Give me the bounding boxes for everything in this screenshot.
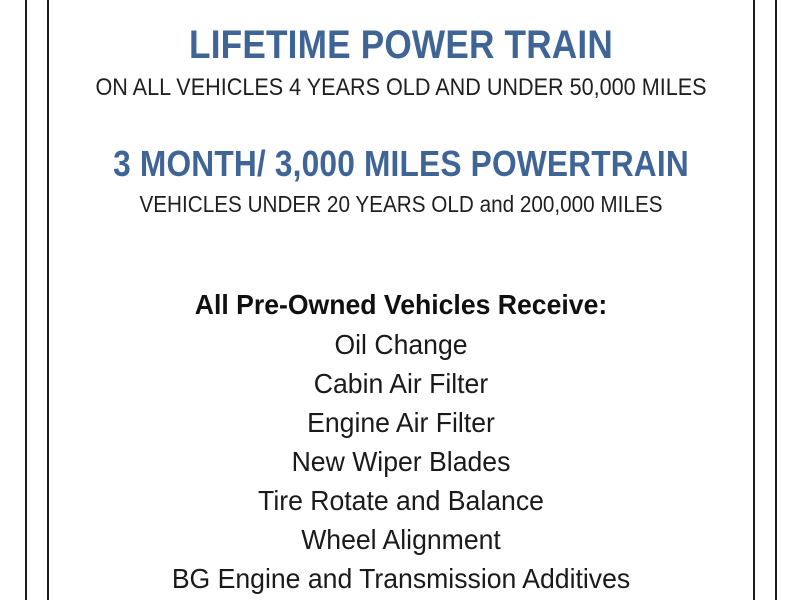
warranty-headline-lifetime: LIFETIME POWER TRAIN [91, 24, 711, 66]
list-item: Engine Air Filter [67, 403, 736, 442]
services-section: All Pre-Owned Vehicles Receive: Oil Chan… [49, 217, 753, 598]
warranty-block-3month: 3 MONTH/ 3,000 MILES POWERTRAIN VEHICLES… [49, 101, 753, 217]
list-item: BG Engine and Transmission Additives [67, 559, 736, 598]
services-heading: All Pre-Owned Vehicles Receive: [67, 291, 736, 319]
list-item: Tire Rotate and Balance [67, 481, 736, 520]
border-rule-left-outer [25, 0, 27, 600]
flyer-content: LIFETIME POWER TRAIN ON ALL VEHICLES 4 Y… [49, 0, 753, 600]
services-list: Oil Change Cabin Air Filter Engine Air F… [49, 325, 753, 598]
border-rule-right-outer [775, 0, 777, 600]
list-item: New Wiper Blades [67, 442, 736, 481]
list-item: Wheel Alignment [67, 520, 736, 559]
warranty-subline-3month: VEHICLES UNDER 20 YEARS OLD and 200,000 … [84, 183, 718, 217]
warranty-subline-lifetime: ON ALL VEHICLES 4 YEARS OLD AND UNDER 50… [84, 66, 718, 101]
warranty-headline-3month: 3 MONTH/ 3,000 MILES POWERTRAIN [91, 145, 711, 183]
border-rule-right-inner [753, 0, 755, 600]
list-item: Oil Change [67, 325, 736, 364]
warranty-flyer: LIFETIME POWER TRAIN ON ALL VEHICLES 4 Y… [0, 0, 800, 600]
list-item: Cabin Air Filter [67, 364, 736, 403]
warranty-block-lifetime: LIFETIME POWER TRAIN ON ALL VEHICLES 4 Y… [49, 0, 753, 101]
